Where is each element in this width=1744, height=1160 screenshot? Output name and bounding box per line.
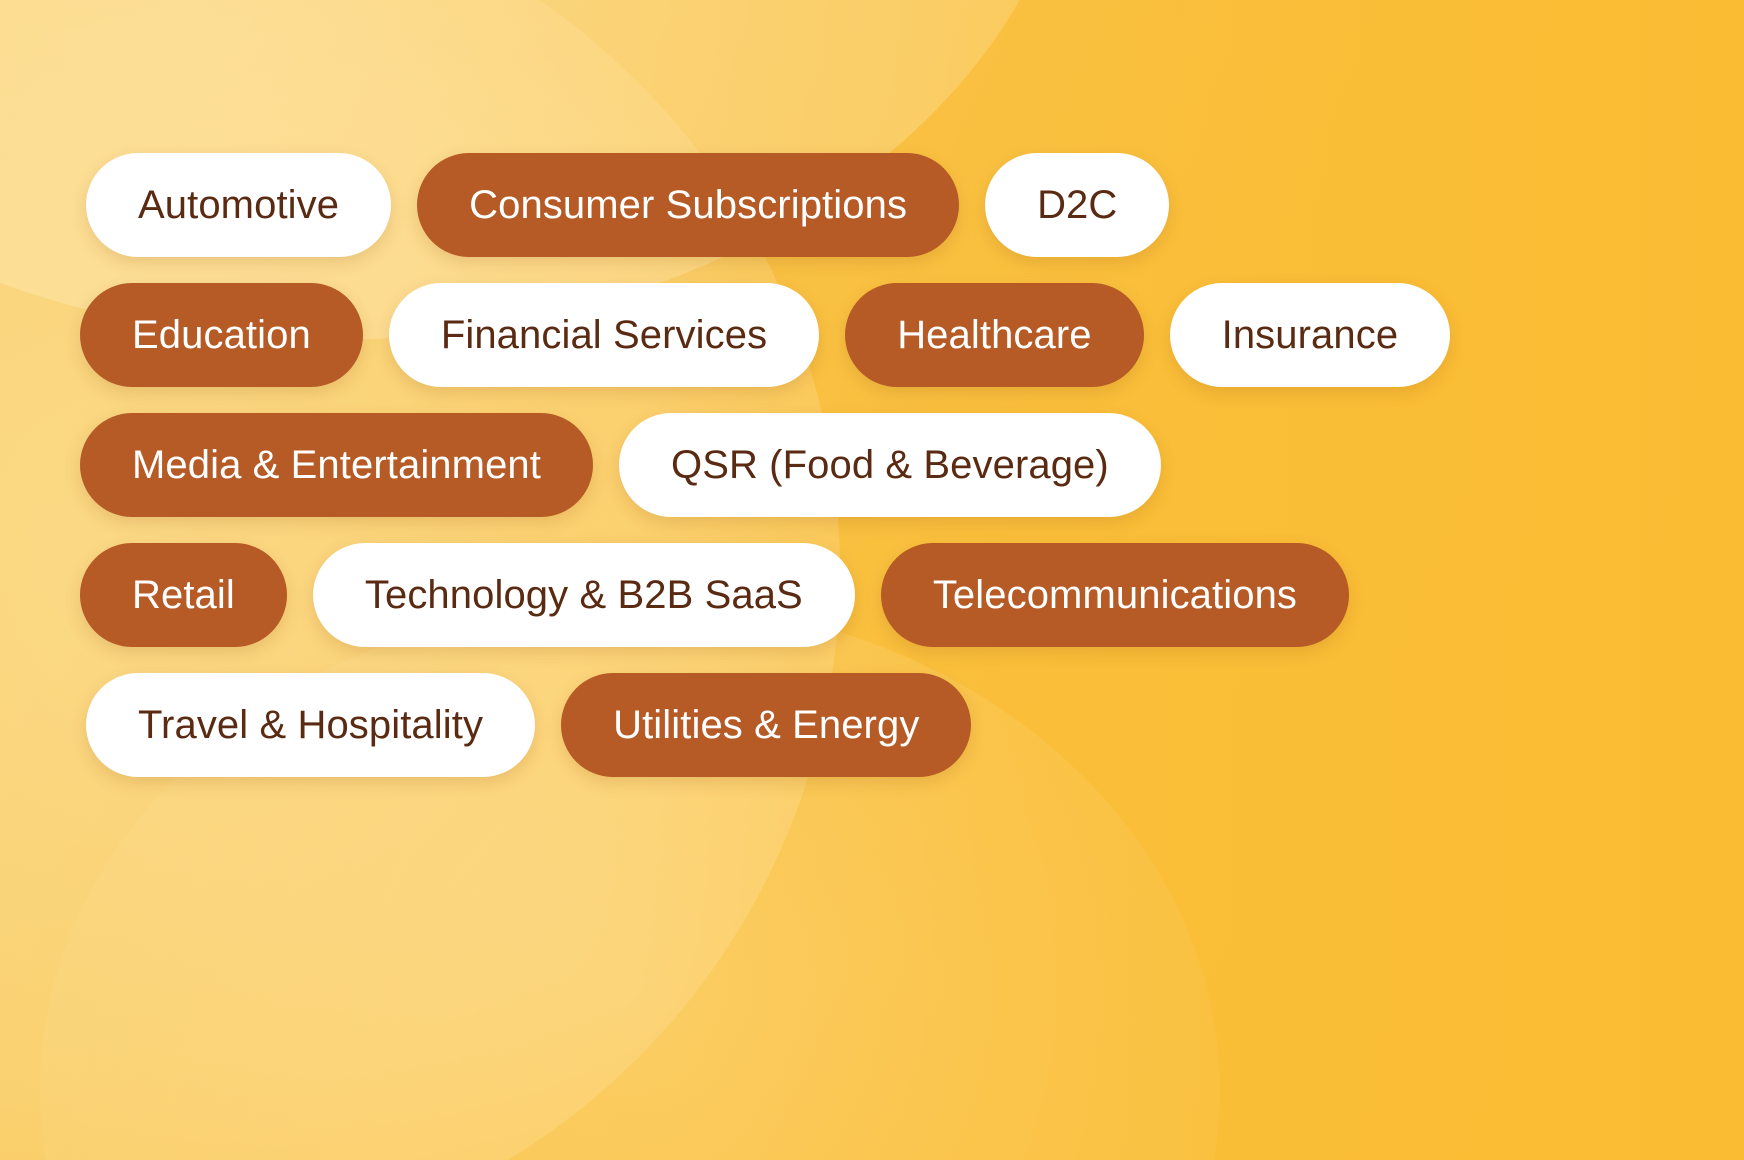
pill-consumer-subscriptions[interactable]: Consumer Subscriptions: [417, 153, 959, 257]
pill-row: Education Financial Services Healthcare …: [80, 280, 1664, 390]
pill-media-and-entertainment[interactable]: Media & Entertainment: [80, 413, 593, 517]
pill-row: Media & Entertainment QSR (Food & Bevera…: [80, 410, 1664, 520]
pill-d2c[interactable]: D2C: [985, 153, 1169, 257]
pill-financial-services[interactable]: Financial Services: [389, 283, 819, 387]
pill-travel-and-hospitality[interactable]: Travel & Hospitality: [86, 673, 535, 777]
pill-education[interactable]: Education: [80, 283, 363, 387]
pill-retail[interactable]: Retail: [80, 543, 287, 647]
pill-qsr-food-and-beverage[interactable]: QSR (Food & Beverage): [619, 413, 1161, 517]
pill-row: Travel & Hospitality Utilities & Energy: [80, 670, 1664, 780]
pill-insurance[interactable]: Insurance: [1170, 283, 1451, 387]
pill-automotive[interactable]: Automotive: [86, 153, 391, 257]
pill-cloud: Automotive Consumer Subscriptions D2C Ed…: [0, 0, 1744, 1160]
industry-tag-cloud-canvas: Automotive Consumer Subscriptions D2C Ed…: [0, 0, 1744, 1160]
pill-technology-and-b2b-saas[interactable]: Technology & B2B SaaS: [313, 543, 855, 647]
pill-row: Retail Technology & B2B SaaS Telecommuni…: [80, 540, 1664, 650]
pill-row: Automotive Consumer Subscriptions D2C: [80, 150, 1664, 260]
pill-utilities-and-energy[interactable]: Utilities & Energy: [561, 673, 971, 777]
pill-telecommunications[interactable]: Telecommunications: [881, 543, 1349, 647]
pill-healthcare[interactable]: Healthcare: [845, 283, 1143, 387]
